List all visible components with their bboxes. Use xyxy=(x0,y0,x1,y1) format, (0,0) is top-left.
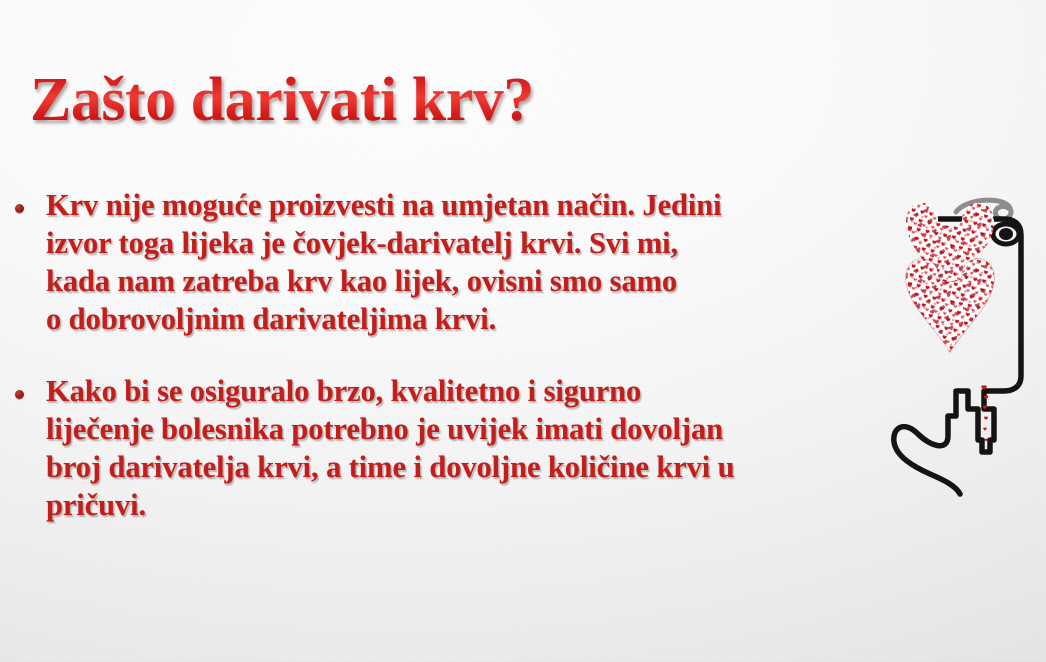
bullet-marker xyxy=(12,186,46,218)
bullet-dot-icon xyxy=(15,204,24,213)
bullet-paragraph: Krv nije moguće proizvesti na umjetan na… xyxy=(46,186,972,338)
bullet-line: liječenje bolesnika potrebno je uvijek i… xyxy=(46,410,972,448)
bullet-marker xyxy=(12,372,46,404)
list-item: Kako bi se osiguralo brzo, kvalitetno i … xyxy=(12,372,972,524)
bullet-line: o dobrovoljnim darivateljima krvi. xyxy=(46,300,972,338)
slide-title: Zašto darivati krv? xyxy=(30,68,534,133)
bullet-paragraph: Kako bi se osiguralo brzo, kvalitetno i … xyxy=(46,372,972,524)
bullet-list: Krv nije moguće proizvesti na umjetan na… xyxy=(12,186,972,556)
bullet-line: pričuvi. xyxy=(46,486,972,524)
bullet-line: Krv nije moguće proizvesti na umjetan na… xyxy=(46,186,972,224)
bullet-dot-icon xyxy=(15,390,24,399)
list-item: Krv nije moguće proizvesti na umjetan na… xyxy=(12,186,972,338)
bag-port-icon xyxy=(993,224,1019,244)
bullet-line: broj darivatelja krvi, a time i dovoljne… xyxy=(46,448,972,486)
blood-drip-hearts-icon xyxy=(981,385,988,441)
bullet-line: kada nam zatreba krv kao lijek, ovisni s… xyxy=(46,262,972,300)
presentation-slide: Zašto darivati krv? Krv nije moguće proi… xyxy=(0,0,1046,662)
bullet-line: izvor toga lijeka je čovjek-darivatelj k… xyxy=(46,224,972,262)
bullet-line: Kako bi se osiguralo brzo, kvalitetno i … xyxy=(46,372,972,410)
